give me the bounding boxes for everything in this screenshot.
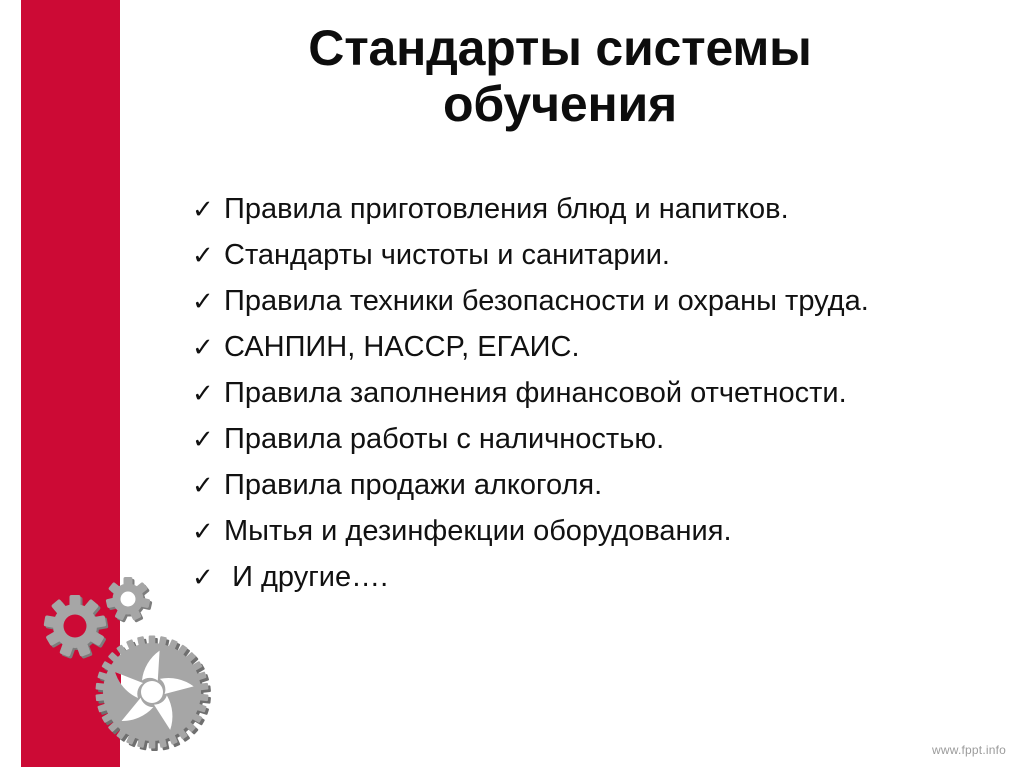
- check-icon: ✓: [192, 370, 224, 416]
- list-item: ✓ И другие….: [192, 554, 992, 600]
- list-item-label: Правила техники безопасности и охраны тр…: [224, 278, 992, 324]
- check-icon: ✓: [192, 462, 224, 508]
- list-item: ✓ Правила продажи алкоголя.: [192, 462, 992, 508]
- slide-canvas: Стандарты системы обучения ✓ Правила при…: [0, 0, 1024, 767]
- list-item-label: Правила продажи алкоголя.: [224, 462, 992, 508]
- check-icon: ✓: [192, 278, 224, 324]
- watermark: www.fppt.info: [932, 743, 1006, 757]
- check-icon: ✓: [192, 186, 224, 232]
- page-title: Стандарты системы обучения: [180, 20, 940, 132]
- list-item-label: Правила приготовления блюд и напитков.: [224, 186, 992, 232]
- list-item: ✓ Мытья и дезинфекции оборудования.: [192, 508, 992, 554]
- list-item-label: И другие….: [224, 554, 992, 600]
- list-item-label: Мытья и дезинфекции оборудования.: [224, 508, 992, 554]
- list-item: ✓ Правила техники безопасности и охраны …: [192, 278, 992, 324]
- bullet-list: ✓ Правила приготовления блюд и напитков.…: [192, 186, 992, 600]
- check-icon: ✓: [192, 508, 224, 554]
- page-title-line-1: Стандарты системы: [180, 20, 940, 76]
- check-icon: ✓: [192, 232, 224, 278]
- check-icon: ✓: [192, 416, 224, 462]
- list-item: ✓ Правила работы с наличностью.: [192, 416, 992, 462]
- list-item: ✓ Правила приготовления блюд и напитков.: [192, 186, 992, 232]
- list-item-label: Стандарты чистоты и санитарии.: [224, 232, 992, 278]
- list-item: ✓ Стандарты чистоты и санитарии.: [192, 232, 992, 278]
- check-icon: ✓: [192, 324, 224, 370]
- check-icon: ✓: [192, 554, 224, 600]
- list-item-label: САНПИН, HACCP, ЕГАИС.: [224, 324, 992, 370]
- list-item-label: Правила работы с наличностью.: [224, 416, 992, 462]
- page-title-line-2: обучения: [180, 76, 940, 132]
- list-item: ✓ САНПИН, HACCP, ЕГАИС.: [192, 324, 992, 370]
- list-item-label: Правила заполнения финансовой отчетности…: [224, 370, 992, 416]
- list-item: ✓ Правила заполнения финансовой отчетнос…: [192, 370, 992, 416]
- red-accent-band: [21, 0, 120, 767]
